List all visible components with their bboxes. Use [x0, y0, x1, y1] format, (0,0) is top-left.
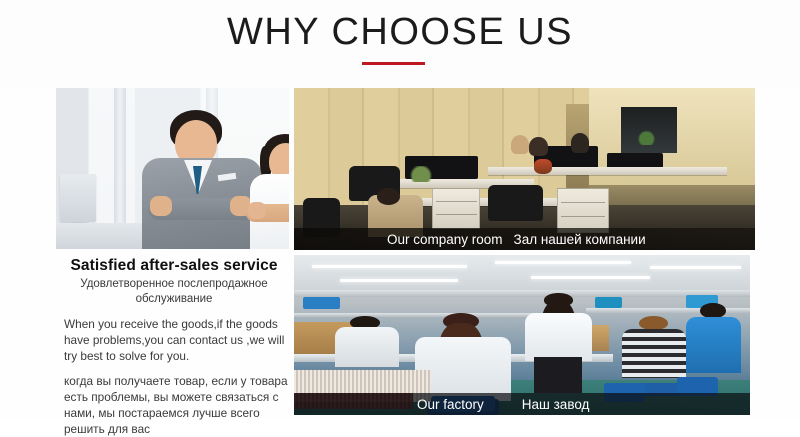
why-choose-us-banner: WHY CHOOSE US — [0, 0, 800, 418]
office-worker — [529, 137, 547, 156]
office-worker-head — [377, 188, 400, 204]
ceiling-light — [650, 266, 741, 269]
office-caption-en: Our company room — [387, 232, 503, 247]
office-caption-bar: Our company room Зал нашей компании — [294, 228, 755, 250]
trousers — [534, 357, 582, 393]
office-plant-icon — [405, 166, 437, 182]
parts-bin — [595, 297, 622, 308]
service-heading-ru-line2: обслуживание — [56, 292, 292, 306]
factory-worker — [522, 293, 595, 392]
parts-bin — [303, 297, 339, 310]
uniform — [335, 327, 399, 367]
striped-shirt — [622, 329, 686, 379]
ceiling-light — [312, 265, 467, 268]
page-title: WHY CHOOSE US — [0, 10, 800, 54]
after-sales-service-block: Satisfied after-sales service Удовлетвор… — [56, 252, 292, 437]
factory-worker — [335, 316, 399, 367]
office-flower-icon — [534, 159, 552, 174]
ceiling-light — [531, 276, 650, 279]
background-monitor — [60, 174, 96, 222]
factory-worker — [686, 303, 741, 373]
factory-caption-ru: Наш завод — [522, 397, 590, 412]
service-paragraph-en: When you receive the goods,if the goods … — [56, 316, 292, 365]
blue-uniform — [686, 317, 741, 373]
office-worker — [571, 133, 589, 152]
person-woman-white-top — [242, 134, 289, 249]
cabinet-drawer-line — [436, 201, 477, 202]
service-paragraph-ru: когда вы получаете товар, если у товара … — [56, 373, 292, 437]
office-cabinet — [557, 188, 610, 232]
cabinet-drawer-line — [561, 216, 606, 217]
hand — [150, 196, 172, 216]
factory-floor-photo — [294, 255, 750, 415]
ceiling-light — [495, 261, 632, 264]
office-worker — [511, 135, 529, 154]
ceiling-light — [340, 279, 459, 282]
service-heading-en: Satisfied after-sales service — [56, 256, 292, 276]
factory-caption-en: Our factory — [417, 397, 484, 412]
cabinet-drawer-line — [561, 202, 606, 203]
office-cabinet — [432, 188, 480, 229]
office-chair — [488, 185, 543, 221]
service-heading-ru-line1: Удовлетворенное послепродажное — [56, 277, 292, 291]
hand — [248, 202, 266, 219]
company-office-photo — [294, 88, 755, 250]
title-underline-accent — [362, 62, 425, 65]
office-plant-icon — [635, 130, 658, 145]
business-team-photo — [56, 88, 289, 249]
office-desk — [488, 167, 728, 175]
cabinet-drawer-line — [436, 214, 477, 215]
office-caption-ru: Зал нашей компании — [514, 232, 646, 247]
factory-caption-bar: Our factory Наш завод — [294, 393, 750, 415]
uniform — [525, 313, 592, 361]
header: WHY CHOOSE US — [0, 0, 800, 88]
